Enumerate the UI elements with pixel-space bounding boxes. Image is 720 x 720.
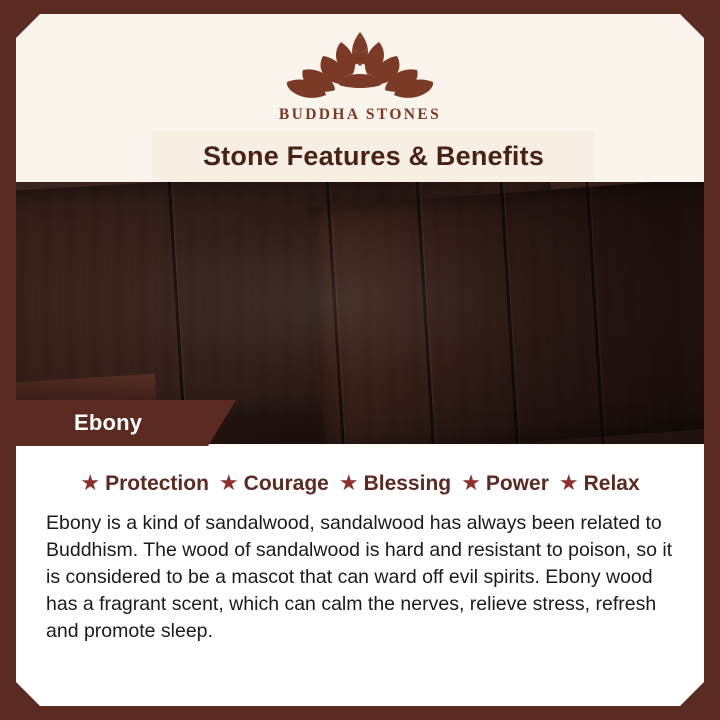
content-section: ★ Protection ★ Courage ★ Blessing ★ Powe… — [16, 446, 704, 706]
benefit-item: ★ Power — [461, 472, 549, 496]
stone-description: Ebony is a kind of sandalwood, sandalwoo… — [46, 510, 674, 645]
stone-name: Ebony — [16, 410, 142, 436]
benefit-item: ★ Courage — [219, 472, 329, 496]
benefit-label: Power — [486, 472, 549, 496]
frame-right — [704, 0, 720, 720]
benefit-item: ★ Protection — [80, 472, 209, 496]
benefits-list: ★ Protection ★ Courage ★ Blessing ★ Powe… — [16, 446, 704, 496]
star-icon: ★ — [219, 472, 239, 494]
lotus-buddha-icon — [275, 26, 445, 104]
page-title: Stone Features & Benefits — [152, 131, 595, 182]
frame-top — [0, 0, 720, 14]
benefit-label: Blessing — [364, 472, 452, 496]
infographic-page: BUDDHA STONES Stone Features & Benefits … — [0, 0, 720, 720]
star-icon: ★ — [80, 472, 100, 494]
star-icon: ★ — [559, 472, 579, 494]
benefit-label: Relax — [584, 472, 640, 496]
stone-name-banner: Ebony — [16, 400, 236, 446]
brand-name: BUDDHA STONES — [279, 106, 441, 124]
star-icon: ★ — [339, 472, 359, 494]
benefit-item: ★ Relax — [559, 472, 640, 496]
benefit-label: Courage — [244, 472, 329, 496]
benefit-label: Protection — [105, 472, 209, 496]
benefit-item: ★ Blessing — [339, 472, 451, 496]
frame-bottom — [0, 706, 720, 720]
frame-left — [0, 0, 16, 720]
star-icon: ★ — [461, 472, 481, 494]
brand-logo: BUDDHA STONES — [16, 26, 704, 124]
page-title-text: Stone Features & Benefits — [203, 141, 544, 172]
